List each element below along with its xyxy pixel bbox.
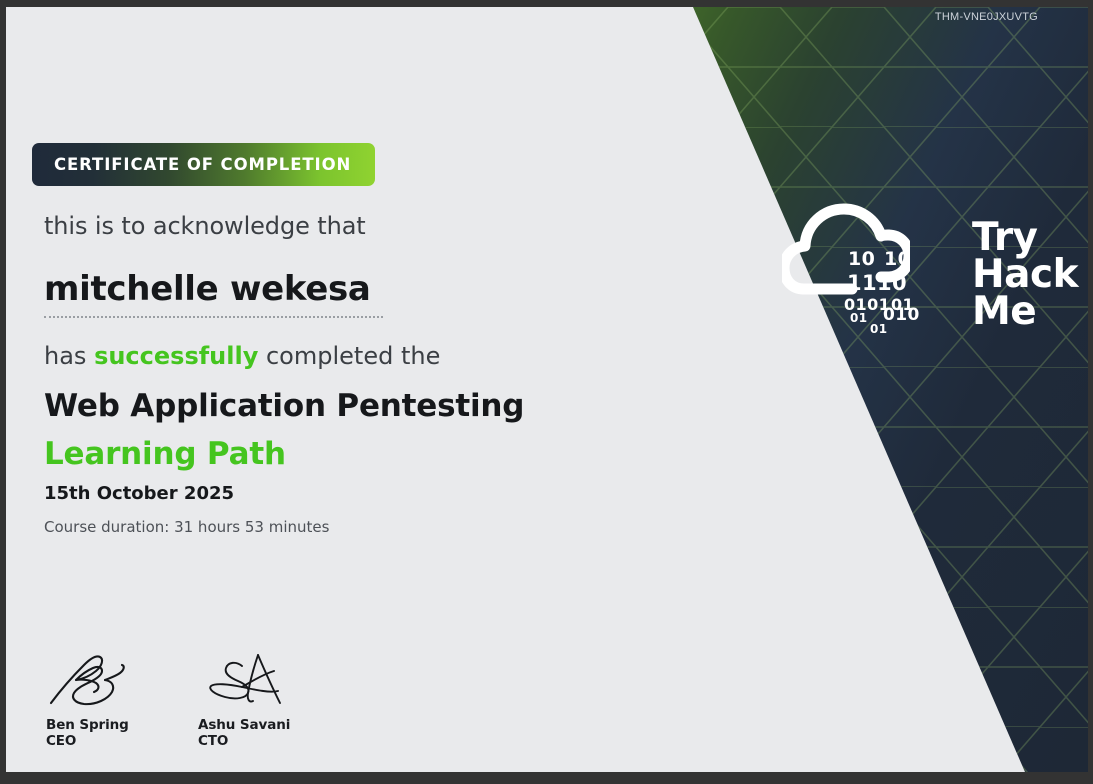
binary-digit-2: 10 <box>884 248 911 270</box>
completed-line: has successfully completed the <box>44 342 440 370</box>
completed-prefix: has <box>44 342 94 370</box>
decorative-diagonal-panel: THM-VNE0JXUVTG <box>598 7 1088 772</box>
course-kind: Learning Path <box>44 430 286 478</box>
wordmark-line-hack: Hack <box>972 256 1082 293</box>
binary-digit-6: 01 <box>850 311 868 325</box>
acknowledge-line: this is to acknowledge that <box>44 212 366 240</box>
page-frame: THM-VNE0JXUVTG 10 10 1110 0101 01 01 010… <box>0 0 1093 784</box>
course-title: Web Application Pentesting <box>44 382 524 430</box>
signature-block-ceo: Ben Spring CEO <box>46 647 146 749</box>
signatory-role-ceo: CEO <box>46 733 146 749</box>
completed-suffix: completed the <box>258 342 440 370</box>
recipient-name: mitchelle wekesa <box>44 269 371 309</box>
certificate-sheet: THM-VNE0JXUVTG 10 10 1110 0101 01 01 010… <box>6 7 1088 772</box>
issue-date: 15th October 2025 <box>44 483 234 504</box>
hexagon-pattern <box>598 7 1088 772</box>
tryhackme-wordmark: Try Hack Me <box>972 219 1082 330</box>
course-duration: Course duration: 31 hours 53 minutes <box>44 518 329 536</box>
signatory-role-cto: CTO <box>198 733 298 749</box>
tryhackme-logo: 10 10 1110 0101 01 01 010 01 Try Hack Me <box>782 185 1068 335</box>
certificate-badge-wrapper: CERTIFICATE OF COMPLETION <box>32 143 375 186</box>
signature-ben-spring <box>46 647 146 711</box>
completed-highlight: successfully <box>94 342 258 370</box>
wordmark-line-me: Me <box>972 293 1082 330</box>
binary-digit-7: 010 <box>883 305 920 325</box>
binary-digit-3: 1110 <box>847 271 907 295</box>
signatory-name-cto: Ashu Savani <box>198 717 298 733</box>
certificate-of-completion-badge: CERTIFICATE OF COMPLETION <box>32 143 375 186</box>
signatory-name-ceo: Ben Spring <box>46 717 146 733</box>
binary-digit-1: 10 <box>848 248 875 270</box>
recipient-name-underline <box>44 316 383 318</box>
wordmark-line-try: Try <box>972 219 1082 256</box>
signature-ashu-savani <box>198 643 298 711</box>
signature-block-cto: Ashu Savani CTO <box>198 643 298 749</box>
certificate-id: THM-VNE0JXUVTG <box>935 11 1038 23</box>
binary-digit-8: 01 <box>870 322 888 336</box>
